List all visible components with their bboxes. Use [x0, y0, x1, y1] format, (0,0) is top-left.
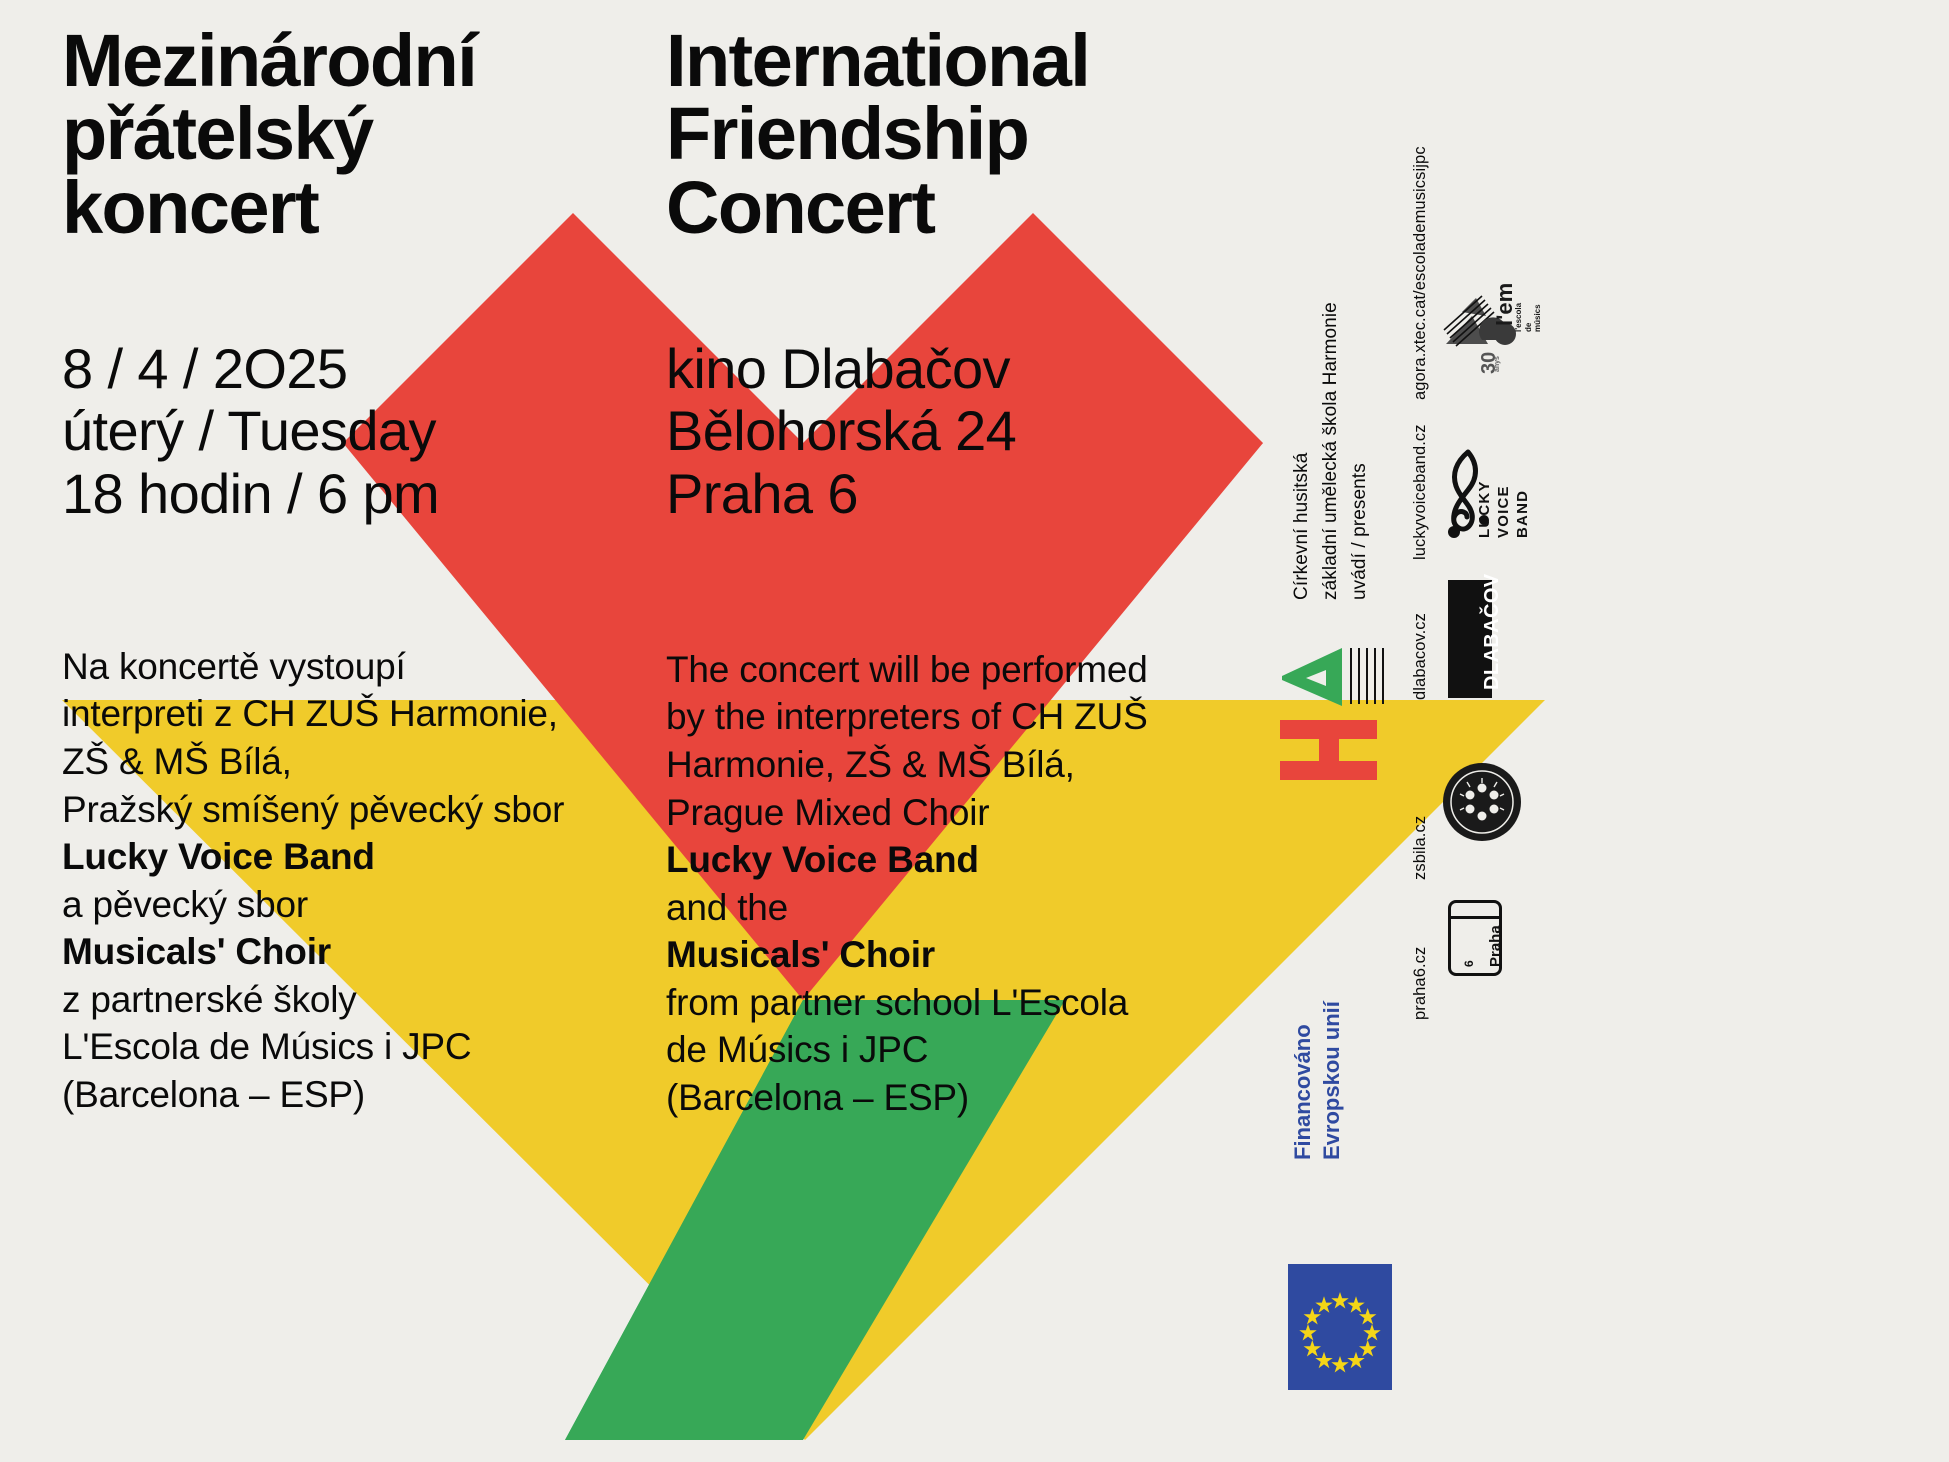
lucky-voice-band-wordmark: LUCKY VOICE BAND	[1476, 480, 1532, 538]
zs-bila-logo-mark	[1442, 762, 1522, 842]
eu-funding-label: Financováno Evropskou unií	[1288, 1001, 1347, 1160]
english-body-line: Prague Mixed Choir	[666, 789, 1276, 837]
praha6-district-label: 6	[1462, 960, 1476, 967]
lem-subtitle: l'escola de músics	[1514, 303, 1543, 332]
link-praha6[interactable]: praha6.cz	[1411, 947, 1430, 1020]
link-dlabacov[interactable]: dlabacov.cz	[1411, 613, 1430, 700]
eu-stars	[1288, 1264, 1392, 1390]
english-body-line: from partner school L'Escola	[666, 979, 1276, 1027]
english-body-line: de Músics i JPC	[666, 1026, 1276, 1074]
czech-body-line: (Barcelona – ESP)	[62, 1071, 662, 1119]
czech-body-line: L'Escola de Músics i JPC	[62, 1023, 662, 1071]
czech-body-line: a pěvecký sbor	[62, 881, 662, 929]
praha6-divider	[1451, 916, 1499, 919]
english-body-line: (Barcelona – ESP)	[666, 1074, 1276, 1122]
dlabacov-cinema-logo[interactable]: DLABAČOV	[1448, 580, 1492, 698]
presenter-credit: Církevní husitská základní umělecká škol…	[1288, 302, 1375, 600]
english-body-line: by the interpreters of CH ZUŠ	[666, 693, 1276, 741]
czech-body: Na koncertě vystoupí interpreti z CH ZUŠ…	[62, 526, 662, 1118]
link-escola-musics[interactable]: agora.xtec.cat/escolademusicsijpc	[1411, 146, 1430, 400]
link-zsbila[interactable]: zsbila.cz	[1411, 816, 1430, 880]
ha-letter-h	[1280, 720, 1377, 780]
czech-event-details: 8 / 4 / 2O25 úterý / Tuesday 18 hodin / …	[62, 244, 662, 526]
czech-body-line: z partnerské školy	[62, 976, 662, 1024]
link-lucky-voice-band[interactable]: luckyvoiceband.cz	[1411, 424, 1430, 560]
czech-column: Mezinárodní přátelský koncert 8 / 4 / 2O…	[62, 0, 662, 1118]
eu-flag-icon	[1282, 1258, 1398, 1396]
english-column: International Friendship Concert kino Dl…	[666, 0, 1276, 1121]
english-body-line: Harmonie, ZŠ & MŠ Bílá,	[666, 741, 1276, 789]
poster-canvas: Mezinárodní přátelský koncert 8 / 4 / 2O…	[0, 0, 1949, 1462]
english-headline: International Friendship Concert	[666, 0, 1276, 244]
czech-body-line: interpreti z CH ZUŠ Harmonie,	[62, 690, 662, 738]
english-body-line-lucky-voice-band: Lucky Voice Band	[666, 836, 1276, 884]
ha-letter-a	[1280, 646, 1344, 708]
czech-body-line-musicals-choir: Musicals' Choir	[62, 928, 662, 976]
lem-escola-de-musics-logo[interactable]: l'em l'escola de músics 30 anys	[1442, 282, 1534, 374]
english-body-line: The concert will be performed	[666, 646, 1276, 694]
czech-body-line: Na koncertě vystoupí	[62, 643, 662, 691]
praha6-city-label: Praha	[1487, 925, 1504, 967]
praha6-logo[interactable]: Praha 6	[1448, 900, 1502, 976]
ha-harmonie-logo[interactable]	[1278, 646, 1398, 782]
lucky-voice-band-logo[interactable]: LUCKY VOICE BAND	[1438, 440, 1534, 550]
czech-headline: Mezinárodní přátelský koncert	[62, 0, 662, 244]
english-venue-details: kino Dlabačov Bělohorská 24 Praha 6	[666, 244, 1276, 526]
english-body-line: and the	[666, 884, 1276, 932]
czech-body-line: Pražský smíšený pěvecký sbor	[62, 786, 662, 834]
english-body: The concert will be performed by the int…	[666, 526, 1276, 1121]
lem-anniversary-label: anys	[1494, 356, 1501, 372]
sponsor-sidebar: Církevní husitská základní umělecká škol…	[1270, 0, 1949, 1462]
zs-bila-school-logo[interactable]	[1442, 762, 1522, 842]
english-body-line-musicals-choir: Musicals' Choir	[666, 931, 1276, 979]
czech-body-line-lucky-voice-band: Lucky Voice Band	[62, 833, 662, 881]
dlabacov-wordmark: DLABAČOV	[1481, 573, 1504, 690]
czech-body-line: ZŠ & MŠ Bílá,	[62, 738, 662, 786]
